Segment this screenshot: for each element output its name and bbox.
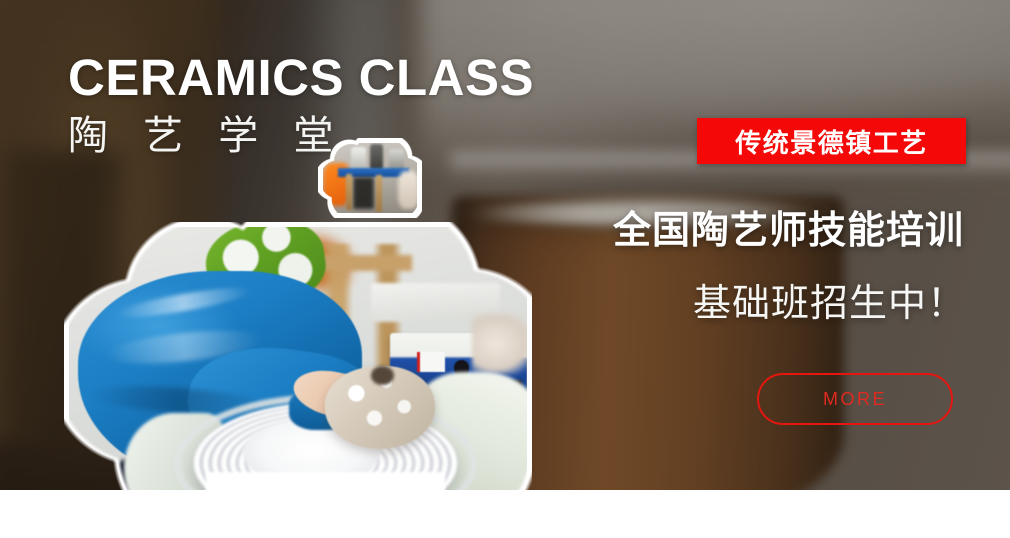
craft-badge: 传统景德镇工艺: [697, 118, 966, 164]
shelf-photo-shadow: [353, 177, 374, 209]
bottom-white-band: [0, 490, 1010, 538]
shelf-photo-pot-3: [389, 149, 404, 170]
headline-block: CERAMICS CLASS 陶 艺 学 堂: [68, 52, 534, 156]
more-button[interactable]: MORE: [757, 373, 953, 425]
more-button-label: MORE: [823, 389, 887, 410]
ceramics-class-banner: CERAMICS CLASS 陶 艺 学 堂: [0, 0, 1010, 538]
headline-chinese: 陶 艺 学 堂: [68, 116, 534, 156]
cloud-photo-large: [64, 222, 532, 510]
promo-line-1: 全国陶艺师技能培训: [613, 199, 964, 254]
headline-english: CERAMICS CLASS: [68, 52, 534, 103]
shelf-photo-wood-leg-1: [346, 174, 353, 210]
photo-wooden-chair-seat: [316, 255, 412, 272]
cloud-small-photo-mask: [323, 143, 417, 213]
shelf-photo-pot-2: [370, 144, 383, 169]
shelf-photo-wood-leg-2: [376, 175, 383, 211]
shelf-photo-glove: [398, 171, 417, 209]
promo-line-2: 基础班招生中！: [693, 272, 966, 327]
photo-background-glove: [472, 313, 527, 374]
craft-badge-label: 传统景德镇工艺: [735, 123, 928, 160]
shelf-photo-pot-1: [351, 147, 366, 169]
studio-shelf-photo: [323, 143, 417, 213]
cloud-thumbnail-small: [318, 138, 422, 218]
cloud-large-photo-mask: [69, 227, 527, 505]
pottery-wheel-photo: [69, 227, 527, 505]
photo-machine-label: [417, 352, 444, 371]
